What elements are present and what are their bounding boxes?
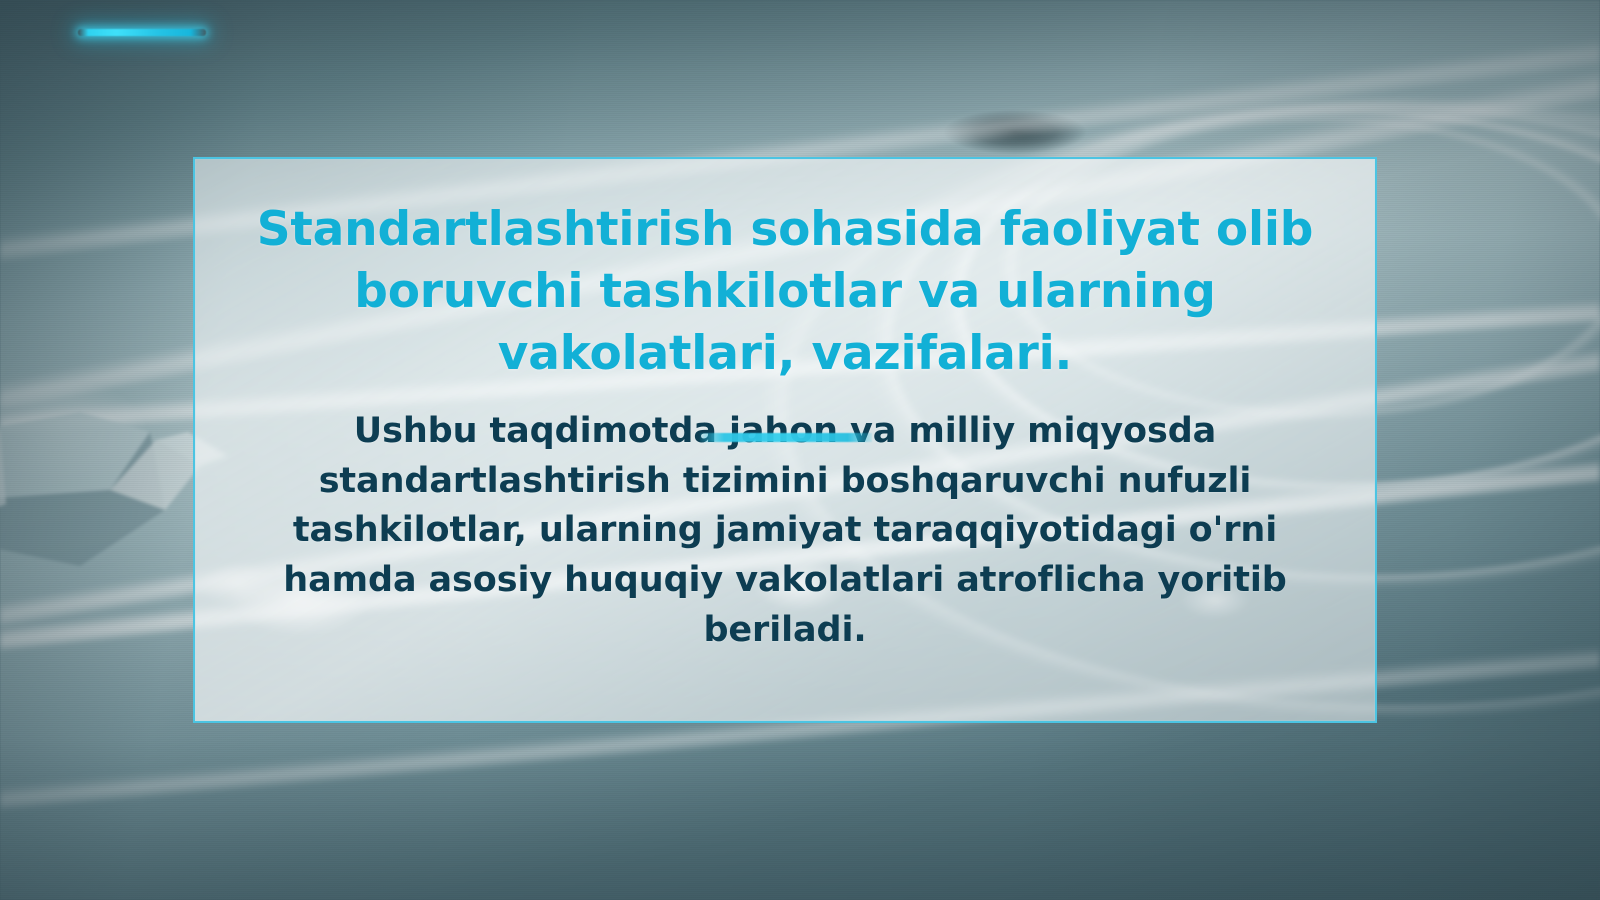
slide-title: Standartlashtirish sohasida faoliyat oli… [255,199,1315,385]
top-left-accent-bar-icon [78,29,206,36]
presentation-slide: Standartlashtirish sohasida faoliyat oli… [0,0,1600,900]
cyan-highlight-streak [700,433,872,442]
slide-body-text: Ushbu taqdimotda jahon va milliy miqyosd… [253,407,1318,655]
